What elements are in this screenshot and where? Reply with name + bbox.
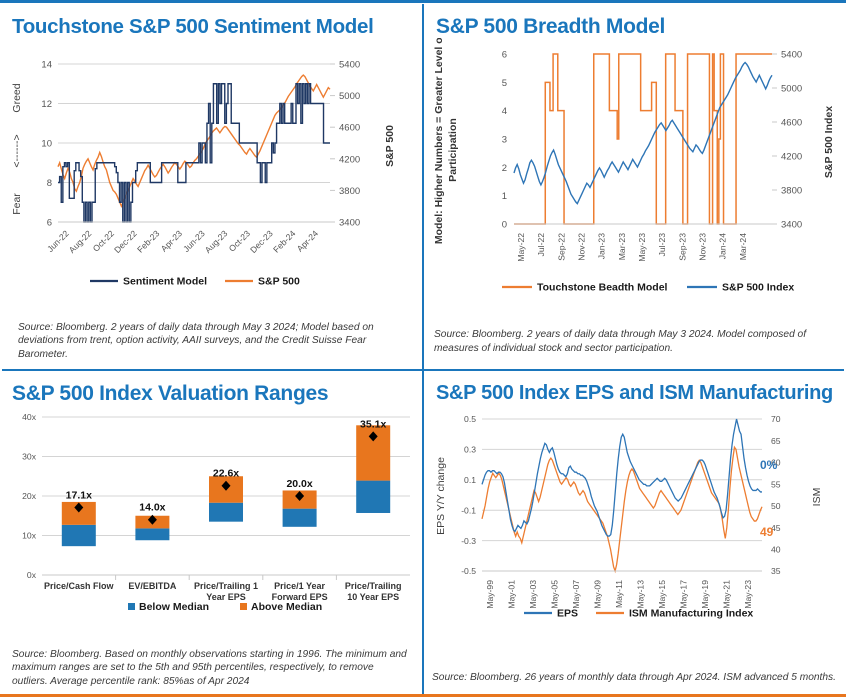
legend-label: Sentiment Model [123, 276, 207, 288]
top-border-rule [0, 0, 846, 3]
y-axis-tick: 0x [27, 570, 37, 580]
category-label: Price/Trailing [345, 581, 402, 591]
x-axis-tick: May-11 [614, 580, 624, 608]
y-axis-tick-right: 5000 [781, 84, 802, 95]
y-axis-arrow: <------> [11, 134, 23, 167]
y-axis-tick-left: 1 [502, 191, 507, 202]
x-axis-tick: Feb-24 [271, 228, 297, 254]
y-axis-title-right: S&P 500 Index [823, 106, 835, 178]
y-axis-tick-left: 2 [502, 163, 507, 174]
series-line-sp500 [58, 75, 330, 206]
x-axis-tick: Jan-23 [597, 233, 607, 259]
x-axis-tick: Apr-24 [295, 228, 320, 253]
category-label: EV/EBITDA [128, 581, 177, 591]
x-axis-tick: Jan-24 [718, 233, 728, 259]
y-axis-tick-right: 4200 [781, 152, 802, 163]
source-note-breadth: Source: Bloomberg. 2 years of daily data… [434, 328, 838, 355]
x-axis-tick: May-15 [657, 580, 667, 609]
y-axis-tick-left: 12 [41, 99, 52, 110]
x-axis-tick: Aug-22 [67, 228, 94, 255]
chart-eps-ism: -0.5-0.3-0.10.10.30.53540455055606570May… [424, 401, 846, 633]
legend-label: S&P 500 [258, 276, 300, 288]
panel-title-breadth: S&P 500 Breadth Model [436, 16, 846, 38]
y-axis-tick-right: 70 [771, 414, 781, 424]
y-axis-tick-left: 3 [502, 135, 507, 146]
legend-label: Above Median [251, 601, 322, 613]
x-axis-tick: May-09 [592, 580, 602, 609]
y-axis-tick-left: 0 [502, 220, 507, 231]
x-axis-tick: May-19 [700, 580, 710, 609]
chart-valuation-ranges: 0x10x20x30x40x17.1xPrice/Cash Flow14.0xE… [0, 403, 422, 635]
source-note-eps-ism: Source: Bloomberg. 26 years of monthly d… [432, 671, 838, 684]
legend-label: Below Median [139, 601, 209, 613]
y-axis-tick: 10x [22, 531, 37, 541]
x-axis-tick: Jun-23 [181, 228, 207, 254]
x-axis-tick: Sep-22 [556, 233, 566, 261]
panel-title-valuation: S&P 500 Index Valuation Ranges [12, 383, 422, 405]
y-axis-tick: 30x [22, 452, 37, 462]
y-axis-tick: 20x [22, 491, 37, 501]
y-axis-tick-left: 8 [47, 178, 52, 189]
legend-swatch [128, 603, 135, 610]
x-axis-tick: May-21 [722, 580, 732, 609]
y-axis-tick-left: 0.1 [464, 475, 476, 485]
y-axis-tick-right: 5000 [339, 91, 360, 102]
source-note-valuation: Source: Bloomberg. Based on monthly obse… [12, 648, 412, 688]
x-axis-tick: Dec-22 [112, 228, 139, 255]
chart-breadth-model: 0123456340038004200460050005400May-22Jul… [424, 38, 846, 313]
x-axis-tick: Sep-23 [677, 233, 687, 261]
legend-label: ISM Manufacturing Index [629, 608, 753, 620]
y-axis-title-left: EPS Y/Y change [435, 457, 447, 535]
x-axis-tick: Oct-23 [227, 228, 252, 253]
bar-value-label: 35.1x [360, 418, 386, 430]
x-axis-tick: Jun-22 [45, 228, 71, 254]
x-axis-tick: Apr-23 [159, 228, 184, 253]
y-axis-title-left-line1: Model: Higher Numbers = Greater Level of [433, 38, 445, 244]
dashboard-page: Touchstone S&P 500 Sentiment Model 68101… [0, 0, 846, 697]
x-axis-tick: May-01 [506, 580, 516, 609]
y-axis-title-greed: Greed [11, 83, 23, 112]
category-label: 10 Year EPS [347, 592, 399, 602]
x-axis-tick: Mar-23 [617, 233, 627, 260]
y-axis-tick-right: 4200 [339, 154, 360, 165]
bar-segment-below-median [135, 528, 169, 540]
y-axis-tick-right: 3800 [339, 186, 360, 197]
y-axis-tick-right: 35 [771, 566, 781, 576]
bar-segment-below-median [62, 525, 96, 546]
y-axis-title-fear: Fear [11, 193, 23, 215]
category-label: Price/Cash Flow [44, 581, 115, 591]
y-axis-tick-right: 50 [771, 501, 781, 511]
category-label: Price/1 Year [274, 581, 325, 591]
x-axis-tick: May-07 [571, 580, 581, 609]
panel-valuation-ranges: S&P 500 Index Valuation Ranges 0x10x20x3… [0, 371, 422, 694]
panel-breadth-model: S&P 500 Breadth Model 012345634003800420… [424, 4, 846, 369]
y-axis-tick-left: 14 [41, 60, 52, 71]
x-axis-tick: Feb-23 [135, 228, 161, 254]
y-axis-tick-left: -0.5 [461, 566, 476, 576]
x-axis-tick: May-05 [549, 580, 559, 609]
legend-swatch [240, 603, 247, 610]
x-axis-tick: May-23 [637, 233, 647, 262]
annotation-eps-value: 0% [760, 458, 778, 472]
legend-label: S&P 500 Index [722, 282, 794, 294]
x-axis-tick: Oct-22 [91, 228, 116, 253]
y-axis-tick-right: 40 [771, 544, 781, 554]
x-axis-tick: May-13 [636, 580, 646, 609]
x-axis-tick: May-03 [528, 580, 538, 609]
source-note-sentiment: Source: Bloomberg. 2 years of daily data… [18, 321, 408, 361]
y-axis-tick-left: 10 [41, 139, 52, 150]
y-axis-title-right: ISM [811, 488, 823, 507]
x-axis-tick: Nov-23 [697, 233, 707, 261]
x-axis-tick: Dec-23 [248, 228, 275, 255]
x-axis-tick: Aug-23 [203, 228, 230, 255]
y-axis-tick-left: 4 [502, 106, 507, 117]
series-line-sentiment-model [58, 84, 330, 222]
x-axis-tick: May-99 [485, 580, 495, 609]
y-axis-tick-right: 3800 [781, 186, 802, 197]
y-axis-tick-right: 5400 [339, 60, 360, 71]
y-axis-tick-right: 3400 [781, 220, 802, 231]
y-axis-title-left-line2: Participation [447, 118, 459, 182]
x-axis-tick: May-23 [743, 580, 753, 609]
panel-eps-ism: S&P 500 Index EPS and ISM Manufacturing … [424, 371, 846, 694]
y-axis-tick-right: 65 [771, 436, 781, 446]
series-line-breadth-model [514, 54, 772, 224]
y-axis-tick-left: -0.3 [461, 536, 476, 546]
y-axis-tick-right: 55 [771, 479, 781, 489]
panel-sentiment-model: Touchstone S&P 500 Sentiment Model 68101… [0, 4, 422, 369]
legend-label: EPS [557, 608, 578, 620]
y-axis-title-right: S&P 500 [384, 125, 396, 167]
x-axis-tick: May-17 [679, 580, 689, 609]
y-axis-tick-right: 4600 [339, 123, 360, 134]
y-axis-tick-right: 4600 [781, 118, 802, 129]
bar-value-label: 17.1x [66, 489, 92, 501]
category-label: Price/Trailing 1 [194, 581, 258, 591]
x-axis-tick: Nov-22 [577, 233, 587, 261]
y-axis-tick-left: -0.1 [461, 505, 476, 515]
legend-label: Touchstone Beadth Model [537, 282, 668, 294]
x-axis-tick: May-22 [516, 233, 526, 262]
y-axis-tick: 40x [22, 412, 37, 422]
y-axis-tick-left: 6 [47, 218, 52, 229]
x-axis-tick: Jul-23 [657, 233, 667, 257]
bar-value-label: 20.0x [286, 478, 312, 490]
bar-value-label: 22.6x [213, 468, 239, 480]
bar-segment-below-median [209, 503, 243, 522]
bar-segment-below-median [283, 509, 317, 527]
y-axis-tick-left: 0.5 [464, 414, 476, 424]
y-axis-tick-left: 6 [502, 50, 507, 61]
panel-title-sentiment: Touchstone S&P 500 Sentiment Model [12, 16, 422, 38]
y-axis-tick-left: 5 [502, 78, 507, 89]
x-axis-tick: Mar-24 [738, 233, 748, 260]
y-axis-tick-left: 0.3 [464, 445, 476, 455]
bar-value-label: 14.0x [139, 502, 165, 514]
bar-segment-below-median [356, 481, 390, 513]
y-axis-tick-right: 5400 [781, 50, 802, 61]
y-axis-tick-right: 3400 [339, 218, 360, 229]
annotation-ism-value: 49 [760, 525, 774, 539]
category-label: Year EPS [206, 592, 246, 602]
x-axis-tick: Jul-22 [536, 233, 546, 257]
chart-sentiment-model: 68101214340038004200460050005400Jun-22Au… [0, 46, 422, 306]
